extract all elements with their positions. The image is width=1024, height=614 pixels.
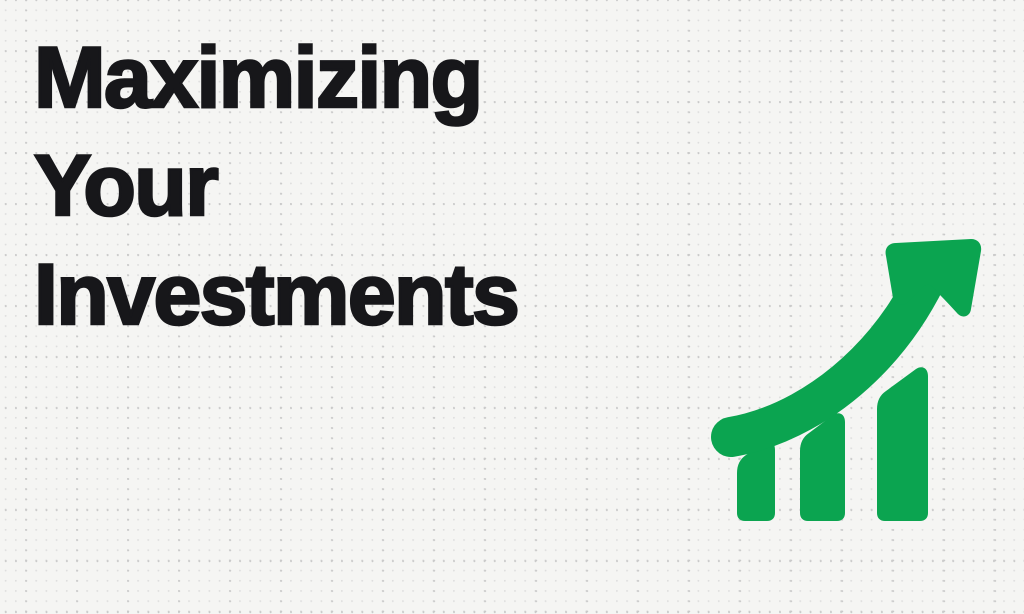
page-title: Maximizing Your Investments <box>34 24 734 349</box>
growth-chart-icon <box>700 225 1000 535</box>
poster-canvas: Maximizing Your Investments <box>0 0 1024 614</box>
chart-bar-3 <box>877 367 928 521</box>
